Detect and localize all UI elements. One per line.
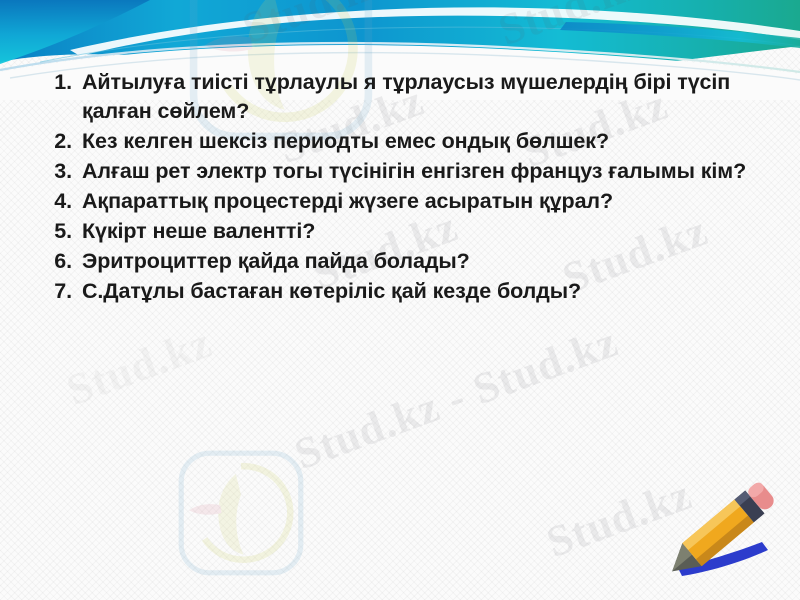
question-item: С.Датұлы бастаған көтеріліс қай кезде бо… (46, 277, 758, 306)
question-item: Алғаш рет электр тогы түсінігін енгізген… (46, 157, 758, 186)
question-item: Күкірт неше валентті? (46, 217, 758, 246)
question-item: Эритроциттер қайда пайда болады? (46, 247, 758, 276)
question-list: Айтылуға тиісті тұрлаулы я тұрлаусыз мүш… (46, 68, 758, 307)
slide-canvas: Stud.kz Stud.kz Stud.kz Stud.kz Stud.kz … (0, 0, 800, 600)
question-item: Айтылуға тиісті тұрлаулы я тұрлаусыз мүш… (46, 68, 758, 126)
question-item: Ақпараттық процестерді жүзеге асыратын қ… (46, 187, 758, 216)
question-item: Кез келген шексіз периодты емес ондық бө… (46, 127, 758, 156)
pencil-illustration (650, 472, 800, 592)
